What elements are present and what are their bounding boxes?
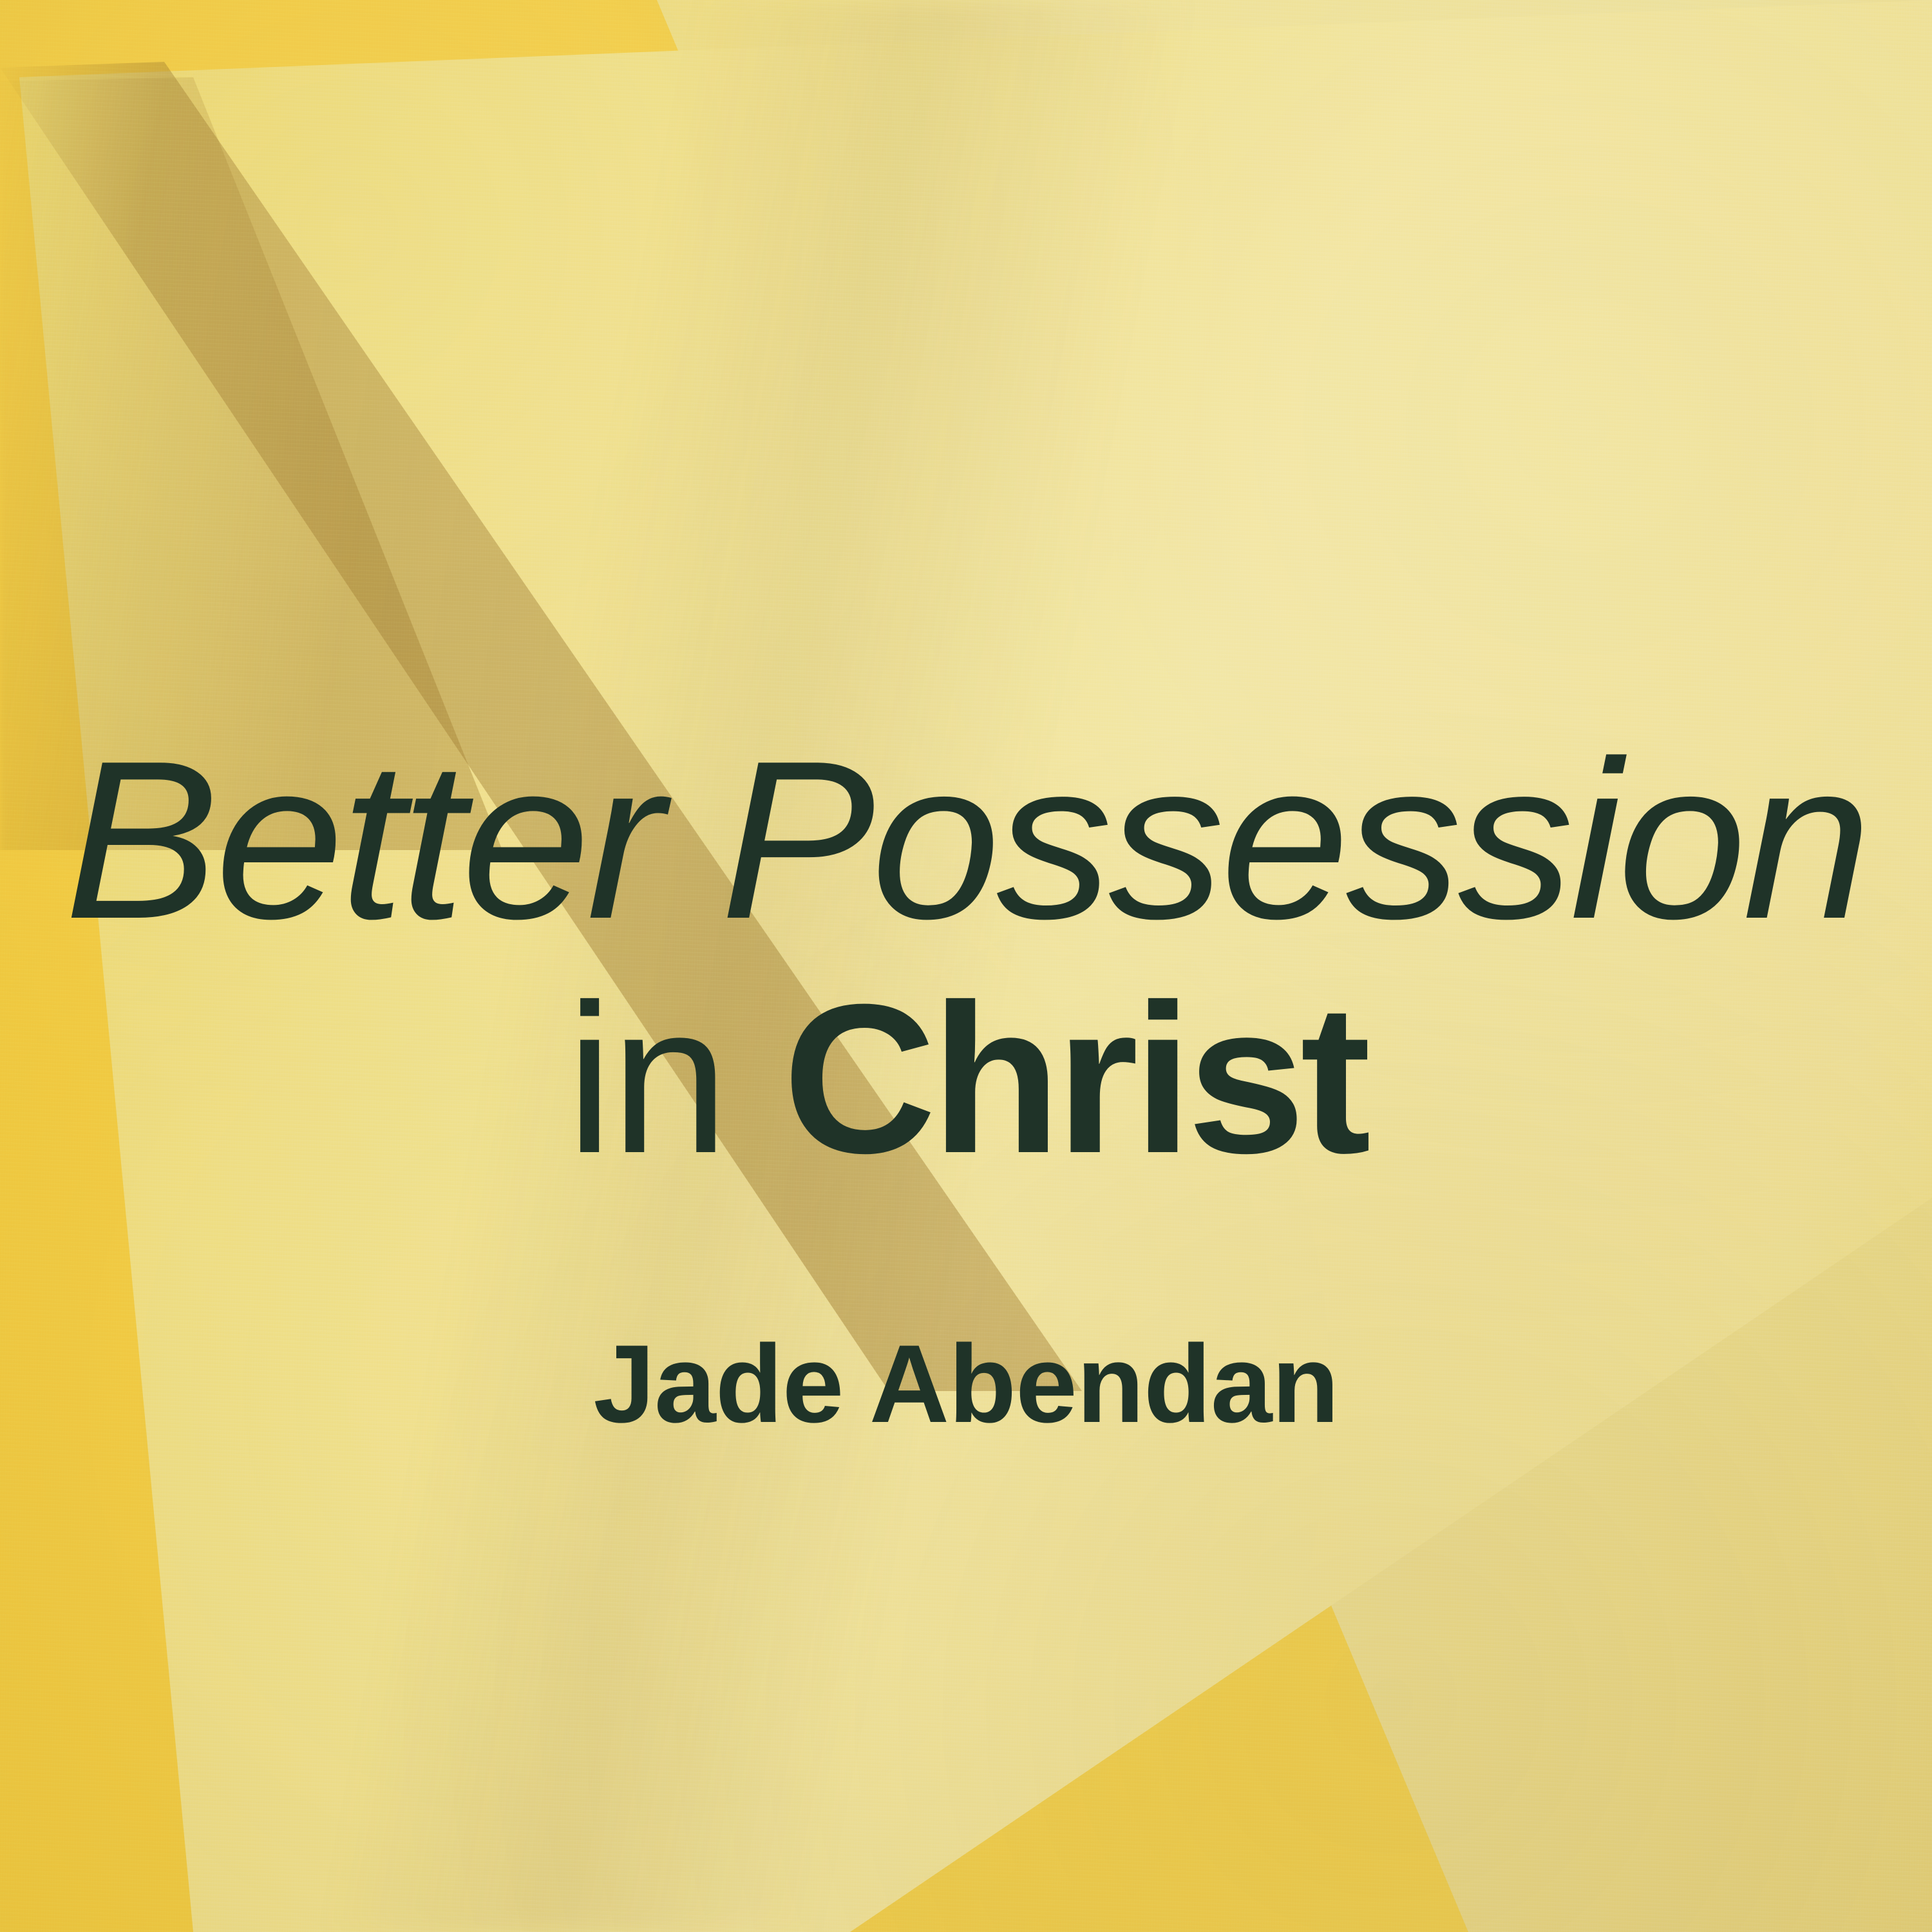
cover-title-line-1: Better Possession xyxy=(0,728,1932,953)
cover-title-line-2: in Christ xyxy=(0,972,1932,1185)
cover-artwork: Better Possession in Christ Jade Abendan xyxy=(0,0,1932,1932)
cover-title-word-christ: Christ xyxy=(783,960,1366,1197)
cover-typography: Better Possession in Christ Jade Abendan xyxy=(0,0,1932,1932)
cover-title-word-in: in xyxy=(566,960,783,1197)
cover-author-name: Jade Abendan xyxy=(0,1329,1932,1439)
